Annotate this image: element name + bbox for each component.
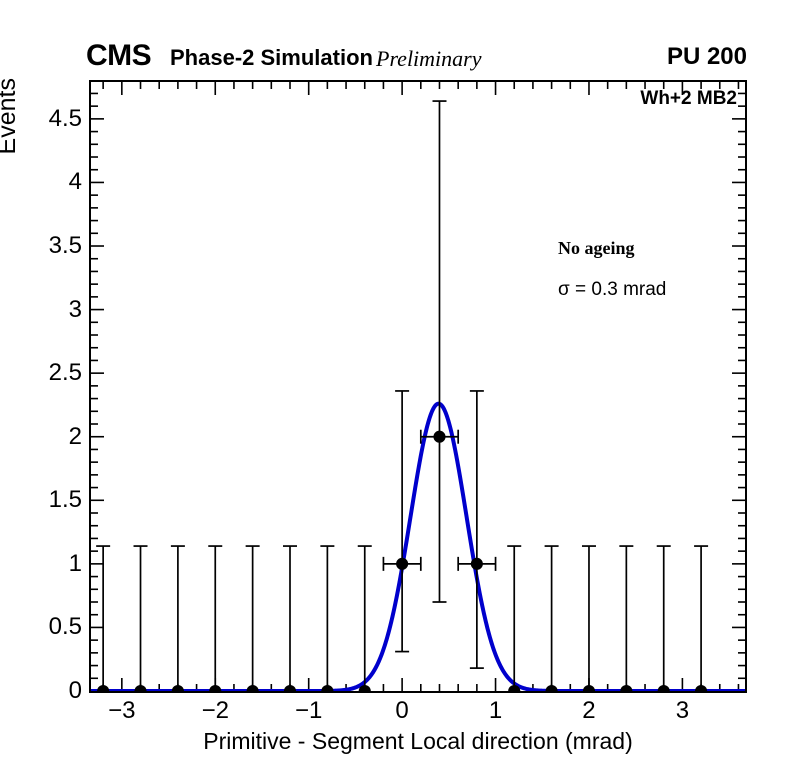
marker <box>546 686 556 691</box>
x-tick-label: −1 <box>295 697 322 725</box>
data-point <box>96 546 110 691</box>
y-tick-label: 1.5 <box>49 486 82 514</box>
x-axis-tick-labels: −3−2−10123 <box>89 697 747 731</box>
x-tick-label: −2 <box>202 697 229 725</box>
x-tick-label: 0 <box>395 697 408 725</box>
x-tick-label: 1 <box>489 697 502 725</box>
data-point <box>619 546 633 691</box>
y-tick-label: 3.5 <box>49 232 82 260</box>
marker <box>509 686 519 691</box>
marker <box>397 559 407 569</box>
x-axis-title: Primitive - Segment Local direction (mra… <box>89 728 747 755</box>
x-tick-label: −3 <box>108 697 135 725</box>
plot-page: CMS Phase-2 Simulation Preliminary PU 20… <box>0 0 796 772</box>
marker <box>98 686 108 691</box>
marker <box>434 432 444 442</box>
y-tick-label: 4.5 <box>49 105 82 133</box>
y-tick-label: 2.5 <box>49 359 82 387</box>
data-point <box>657 546 671 691</box>
ageing-annotation: No ageing <box>558 238 635 259</box>
data-point <box>421 101 458 602</box>
data-point <box>545 546 559 691</box>
data-point <box>283 546 297 691</box>
cms-subtitle: Phase-2 Simulation <box>170 44 373 72</box>
marker <box>659 686 669 691</box>
marker <box>173 686 183 691</box>
marker <box>135 686 145 691</box>
plot-frame: Wh+2 MB2 No ageing σ = 0.3 mrad <box>89 80 747 693</box>
y-tick-label: 0.5 <box>49 613 82 641</box>
wheel-station-label: Wh+2 MB2 <box>640 88 737 110</box>
y-tick-label: 2 <box>69 423 82 451</box>
marker <box>322 686 332 691</box>
data-point <box>246 546 260 691</box>
marker <box>285 686 295 691</box>
axis-ticks <box>91 82 745 691</box>
marker <box>472 559 482 569</box>
gaussian-fit-curve <box>91 404 745 691</box>
cms-logo: CMS <box>86 40 151 72</box>
marker <box>621 686 631 691</box>
marker <box>584 686 594 691</box>
y-tick-label: 3 <box>69 296 82 324</box>
cms-preliminary-tag: Preliminary <box>376 45 482 73</box>
y-tick-label: 0 <box>69 677 82 705</box>
y-tick-label: 1 <box>69 550 82 578</box>
y-tick-label: 4 <box>69 168 82 196</box>
data-point <box>694 546 708 691</box>
data-point <box>507 546 521 691</box>
marker <box>360 686 370 691</box>
y-axis-tick-labels: 00.511.522.533.544.5 <box>0 80 82 693</box>
marker <box>696 686 706 691</box>
data-point <box>458 391 495 668</box>
data-points-group <box>96 101 708 691</box>
data-point <box>358 546 372 691</box>
marker <box>210 686 220 691</box>
pileup-label: PU 200 <box>667 42 747 72</box>
plot-canvas <box>91 82 745 691</box>
x-tick-label: 3 <box>676 697 689 725</box>
cms-header: CMS Phase-2 Simulation Preliminary PU 20… <box>86 40 747 72</box>
marker <box>247 686 257 691</box>
data-point <box>383 391 420 652</box>
data-point <box>134 546 148 691</box>
data-point <box>171 546 185 691</box>
data-point <box>208 546 222 691</box>
data-point <box>582 546 596 691</box>
x-tick-label: 2 <box>582 697 595 725</box>
sigma-annotation: σ = 0.3 mrad <box>558 279 666 301</box>
data-point <box>320 546 334 691</box>
